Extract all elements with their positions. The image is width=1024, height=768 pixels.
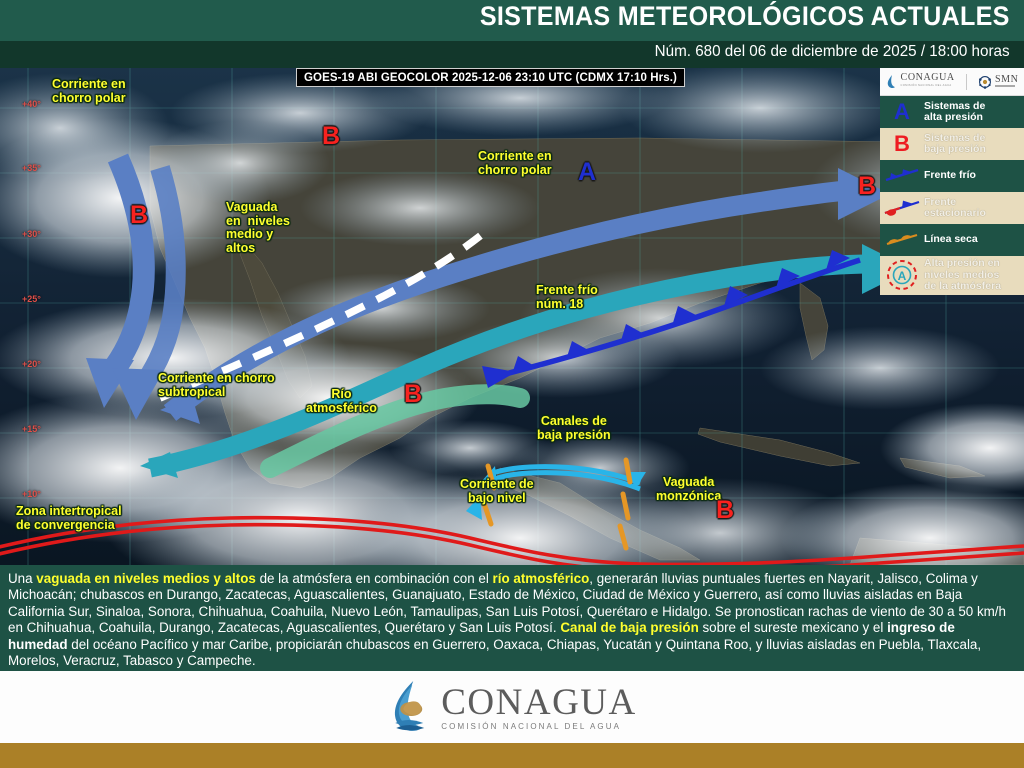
conagua-logo: CONAGUA COMISIÓN NACIONAL DEL AGUA — [387, 679, 637, 735]
conagua-tagline: COMISIÓN NACIONAL DEL AGUA — [441, 722, 637, 731]
lat-label-30: +30° — [22, 229, 41, 239]
svg-text:A: A — [898, 269, 907, 283]
lat-label-25: +25° — [22, 294, 41, 304]
legend-item-dry-line[interactable]: Línea seca — [880, 224, 1024, 256]
weather-bulletin-page: SISTEMAS METEOROLÓGICOS ACTUALES Núm. 68… — [0, 0, 1024, 768]
conagua-droplet-icon — [387, 679, 431, 735]
annotation-rio-atmosferico: Río atmosférico — [306, 388, 377, 415]
legend-item-low-pressure[interactable]: B Sistemas de baja presión — [880, 128, 1024, 160]
legend-label-low-pressure: Sistemas de baja presión — [924, 133, 989, 156]
legend-item-stationary-front[interactable]: Frente estacionario — [880, 192, 1024, 224]
conagua-logo-small: CONAGUA COMISIÓN NACIONAL DEL AGUA — [886, 74, 955, 90]
legend-label-dry-line: Línea seca — [924, 234, 981, 246]
annotation-cold-front-18: Frente frío núm. 18 — [536, 284, 598, 311]
lat-label-15: +15° — [22, 424, 41, 434]
dry-line-icon — [880, 227, 924, 253]
legend-label-midlevel-high: Alta presión en niveles medios de la atm… — [924, 258, 1004, 293]
marker-b-caribbean: B — [716, 496, 734, 525]
annotation-canales-baja: Canales de baja presión — [537, 415, 611, 442]
page-title: SISTEMAS METEOROLÓGICOS ACTUALES — [480, 1, 1010, 32]
legend-divider — [966, 74, 967, 90]
water-drop-icon — [886, 74, 898, 90]
legend-label-cold-front: Frente frío — [924, 170, 979, 182]
forecast-text-panel: Una vaguada en niveles medios y altos de… — [0, 565, 1024, 671]
conagua-wordmark: CONAGUA — [441, 684, 637, 722]
mid-level-high-icon: A — [880, 258, 924, 292]
satellite-map[interactable]: GOES-19 ABI GEOCOLOR 2025-12-06 23:10 UT… — [0, 68, 1024, 565]
cold-front-icon — [880, 163, 924, 189]
legend-item-cold-front[interactable]: Frente frío — [880, 160, 1024, 192]
annotation-jet-subtropical: Corriente en chorro subtropical — [158, 372, 275, 399]
stationary-front-icon — [880, 195, 924, 221]
annotation-jet-polar-east: Corriente en chorro polar — [478, 150, 552, 177]
marker-b-texas-east: B — [858, 172, 876, 201]
lat-label-35: +35° — [22, 163, 41, 173]
annotation-jet-polar-west: Corriente en chorro polar — [52, 78, 126, 105]
smn-emblem-icon — [978, 75, 992, 89]
annotation-vaguada-monzonica: Vaguada monzónica — [656, 476, 721, 503]
marker-b-baja-pacific: B — [130, 201, 148, 230]
legend-item-midlevel-high[interactable]: A Alta presión en niveles medios de la a… — [880, 256, 1024, 295]
bulletin-number-date: Núm. 680 del 06 de diciembre de 2025 / 1… — [655, 43, 1010, 61]
annotation-vaguada-niveles: Vaguada en niveles medio y altos — [226, 201, 290, 255]
goes-timestamp-text: GOES-19 ABI GEOCOLOR 2025-12-06 23:10 UT… — [304, 72, 677, 84]
map-legend: CONAGUA COMISIÓN NACIONAL DEL AGUA — [880, 68, 1024, 295]
lat-label-20: +20° — [22, 359, 41, 369]
annotation-zona-intertropical: Zona intertropical de convergencia — [16, 505, 122, 532]
footer-gold-bar — [0, 743, 1024, 768]
letter-a-icon: A — [880, 99, 924, 125]
annotation-corriente-bajo: Corriente de bajo nivel — [460, 478, 534, 505]
marker-a-gulf-high: A — [578, 158, 596, 187]
legend-item-high-pressure[interactable]: A Sistemas de alta presión — [880, 96, 1024, 128]
legend-label-high-pressure: Sistemas de alta presión — [924, 101, 988, 124]
goes-timestamp-strip: GOES-19 ABI GEOCOLOR 2025-12-06 23:10 UT… — [296, 68, 685, 87]
forecast-paragraph: Una vaguada en niveles medios y altos de… — [8, 571, 1016, 669]
legend-label-stationary-front: Frente estacionario — [924, 197, 989, 220]
lat-label-10: +10° — [22, 489, 41, 499]
letter-b-icon: B — [880, 131, 924, 157]
legend-smn-text: SMN — [995, 76, 1018, 84]
footer: CONAGUA COMISIÓN NACIONAL DEL AGUA — [0, 671, 1024, 743]
marker-b-sierra-madre: B — [404, 380, 422, 409]
legend-conagua-text: CONAGUA — [901, 74, 955, 82]
lat-label-40: +40° — [22, 99, 41, 109]
marker-b-north-mexico: B — [322, 122, 340, 151]
smn-logo-small: SMN — [978, 75, 1018, 89]
legend-logos: CONAGUA COMISIÓN NACIONAL DEL AGUA — [880, 68, 1024, 96]
